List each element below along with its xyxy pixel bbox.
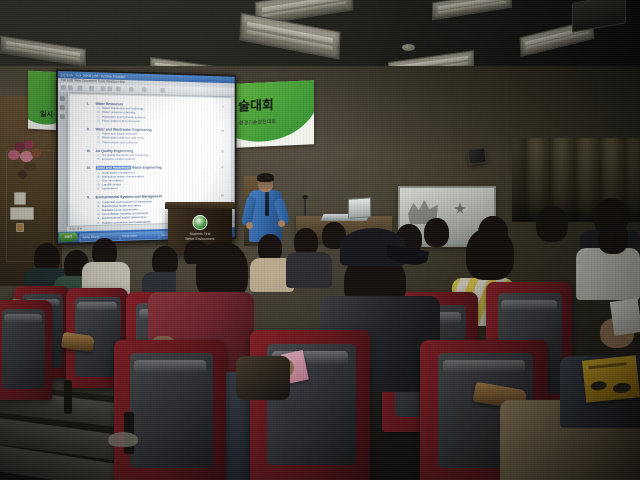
- lecture-hall-photo: 2 일시 술대회 환경기술경진대회 [1] Env_Sci_2008.pdf -…: [0, 0, 640, 480]
- audience-torso-far-8: [286, 252, 332, 288]
- outline-numeral: IV.: [87, 166, 96, 171]
- seat-leg-2: [64, 380, 72, 414]
- outline-page-number: 14: [221, 129, 224, 133]
- desk-microphone: [302, 195, 308, 199]
- outline-subitem-text: Flood analysis and prevention: [102, 118, 141, 122]
- presenter-laptop[interactable]: [348, 197, 371, 219]
- pages-thumbnail-icon[interactable]: [60, 105, 65, 110]
- audience-head-far-13: [536, 206, 568, 242]
- whiteboard-marks-2: [454, 202, 466, 214]
- audience-head-white-shirt: [598, 222, 628, 254]
- audience-white-shirt: [576, 248, 640, 300]
- speaker-right-hand: [278, 220, 285, 227]
- podium-line-1: Students First: [168, 232, 232, 236]
- outlet-plate[interactable]: [16, 223, 24, 232]
- outline-section: III.Air Quality Engineering32A.Air quali…: [87, 149, 224, 162]
- pdf-navigation-pane[interactable]: [58, 92, 68, 232]
- outline-subitem[interactable]: E.Incineration: [87, 185, 224, 191]
- outline-page-number: 47: [221, 166, 224, 170]
- outline-page-number: 32: [221, 149, 224, 153]
- outline-section: IV.Solid and Hazardous Waste Engineering…: [87, 166, 224, 191]
- outline-section: I.Water Resources1A.Water distribution a…: [87, 101, 224, 124]
- yellow-product-box: [582, 355, 640, 402]
- seat-front-3: [250, 330, 370, 480]
- seat-front-1: [0, 300, 52, 400]
- shoe: [108, 432, 138, 447]
- banner-left-korean: 일시: [40, 109, 53, 120]
- toolbar-icon-select[interactable]: [89, 86, 94, 91]
- outline-subitem[interactable]: D.Flood analysis and prevention: [87, 118, 224, 124]
- university-crest-icon: [193, 215, 208, 230]
- flower-arrangement: [6, 140, 48, 184]
- outline-numeral: V.: [87, 196, 96, 201]
- attachments-icon[interactable]: [60, 114, 65, 119]
- outline-subitem-text: Incineration: [102, 187, 117, 191]
- light-switch-plate-main[interactable]: [10, 207, 34, 220]
- smoke-detector-1: [402, 44, 415, 51]
- outline-subitem[interactable]: C.Transmission and collection: [87, 140, 224, 145]
- toolbar-icon-print[interactable]: [68, 85, 73, 90]
- seat-front-2: [114, 340, 226, 480]
- audience-head-striped: [466, 228, 514, 280]
- podium-top: [165, 202, 235, 209]
- outline-numeral: II.: [87, 127, 96, 132]
- outline-page-number: 1: [222, 104, 223, 108]
- toolbar-icon-comment[interactable]: [160, 88, 165, 93]
- outline-page-number: 63: [221, 194, 224, 198]
- toolbar-icon-email[interactable]: [78, 86, 83, 91]
- toolbar-icon-fit-page[interactable]: [116, 87, 121, 92]
- toolbar-icon-search[interactable]: [142, 87, 147, 92]
- white-device: [610, 298, 640, 336]
- banner-right: 술대회 환경기술경진대회: [236, 80, 314, 147]
- toolbar-icon-rotate[interactable]: [129, 87, 134, 92]
- shoulder-bag: [236, 356, 290, 400]
- outline-heading-text: Air Quality Engineering: [95, 149, 133, 153]
- outline-section: II.Water and Wastewater Engineering14A.W…: [87, 127, 224, 144]
- toolbar-icon-save[interactable]: [61, 85, 66, 90]
- audience-head-far-11: [424, 218, 449, 247]
- banner-right-title: 술대회: [238, 94, 274, 115]
- outline-numeral: I.: [87, 101, 96, 106]
- wall-mounted-speaker: [467, 147, 487, 165]
- outline-heading-highlighted: Solid and Hazardous: [95, 166, 130, 170]
- speaker-necktie: [265, 192, 269, 216]
- outline-subitem[interactable]: B.Emission control systems: [87, 157, 224, 161]
- outline-numeral: III.: [87, 149, 96, 154]
- bookmarks-icon[interactable]: [60, 96, 65, 101]
- speaker-hair: [257, 173, 274, 182]
- outline-subitem-text: Transmission and collection: [102, 140, 138, 144]
- start-button[interactable]: start: [59, 232, 78, 242]
- toolbar-icon-zoom-out[interactable]: [101, 86, 106, 91]
- desk-microphone-stem: [304, 198, 306, 216]
- light-switch-plate-top[interactable]: [14, 192, 26, 205]
- taskbar-item-1[interactable]: Presentation: [120, 231, 161, 241]
- speaker-left-hand: [246, 222, 253, 229]
- outline-subitem-text: Emission control systems: [102, 157, 135, 161]
- toolbar-icon-zoom-in[interactable]: [107, 86, 112, 91]
- outline-heading-rest: Waste Engineering: [131, 166, 162, 170]
